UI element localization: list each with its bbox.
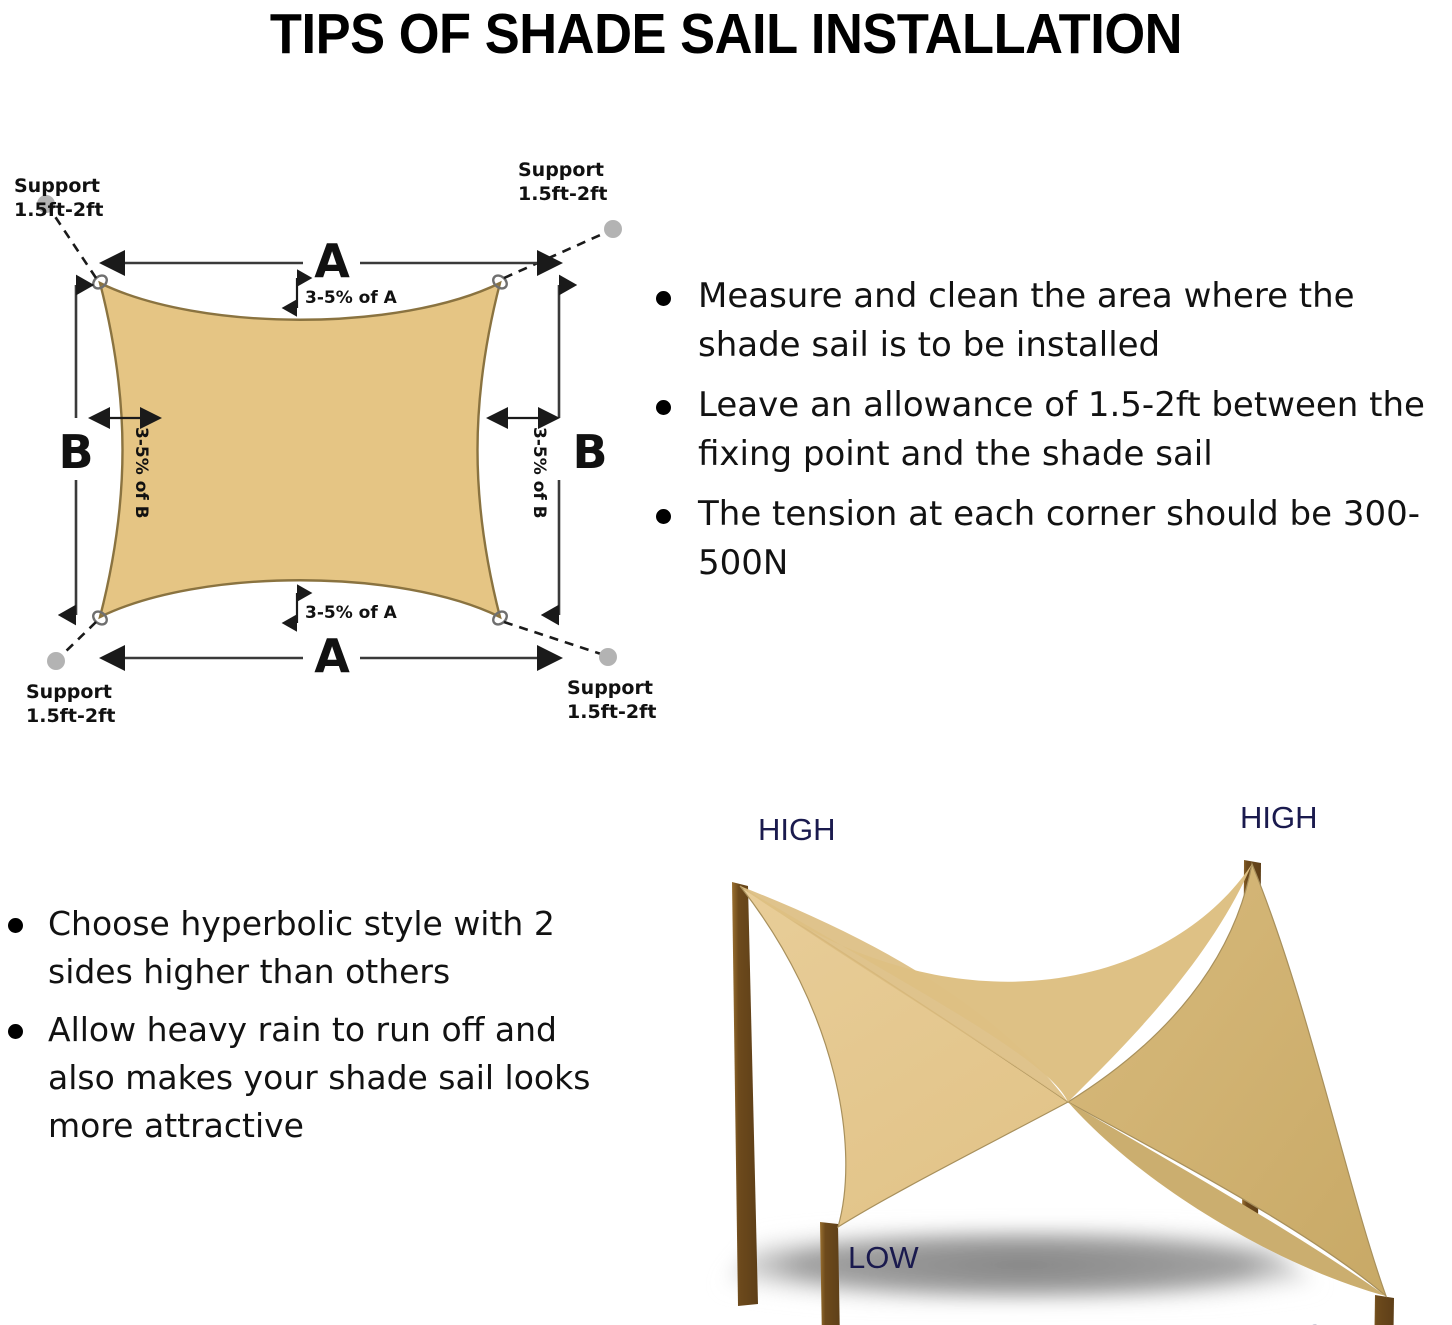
support-line xyxy=(504,622,601,654)
support-label-bottom-right-line1: Support xyxy=(567,677,653,699)
support-label-top-left-line2: 1.5ft-2ft xyxy=(14,199,103,221)
dimension-label-A-bottom: A xyxy=(314,629,350,683)
curve-label-right: 3-5% of B xyxy=(529,427,549,519)
list-item: Choose hyperbolic style with 2 sides hig… xyxy=(0,900,620,996)
support-label-bottom-left-line2: 1.5ft-2ft xyxy=(26,705,115,727)
support-label-bottom-right-line2: 1.5ft-2ft xyxy=(567,701,656,723)
curve-label-bottom: 3-5% of A xyxy=(305,603,398,623)
support-line xyxy=(52,212,96,278)
support-dot xyxy=(47,652,65,670)
dimension-label-B-right: B xyxy=(572,425,607,479)
curve-label-left: 3-5% of B xyxy=(131,427,151,519)
page-title: TIPS OF SHADE SAIL INSTALLATION xyxy=(58,0,1394,68)
post-right-low xyxy=(1371,1295,1394,1325)
infographic-page: TIPS OF SHADE SAIL INSTALLATION xyxy=(0,0,1452,1325)
post-label-front-low: LOW xyxy=(848,1240,919,1275)
support-dot xyxy=(604,220,622,238)
support-label-top-left-line1: Support xyxy=(14,175,100,197)
dimension-label-B-left: B xyxy=(58,425,93,479)
rectangular-sail-diagram: Support 1.5ft-2ft Support 1.5ft-2ft Supp… xyxy=(0,150,660,750)
list-item: Measure and clean the area where the sha… xyxy=(648,272,1452,370)
post-left-high xyxy=(732,882,758,1306)
support-label-bottom-left-line1: Support xyxy=(26,681,112,703)
installation-tips-list: Measure and clean the area where the sha… xyxy=(648,272,1452,599)
post-label-right-low: LOW xyxy=(1286,1318,1357,1325)
list-item: Leave an allowance of 1.5-2ft between th… xyxy=(648,381,1452,479)
list-item: The tension at each corner should be 300… xyxy=(648,490,1452,588)
list-item: Allow heavy rain to run off and also mak… xyxy=(0,1006,620,1150)
post-label-left-high: HIGH xyxy=(758,812,836,847)
shade-sail-shape xyxy=(100,283,500,617)
support-label-top-right-line2: 1.5ft-2ft xyxy=(518,183,607,205)
dimension-label-A-top: A xyxy=(314,234,350,288)
support-line xyxy=(62,622,96,655)
hyperbolic-sail-illustration: HIGH HIGH LOW LOW xyxy=(648,790,1452,1325)
support-line xyxy=(504,232,607,278)
post-front-low xyxy=(820,1222,841,1325)
curve-label-top: 3-5% of A xyxy=(305,288,398,308)
post-label-right-high: HIGH xyxy=(1240,800,1318,835)
hyperbolic-tips-list: Choose hyperbolic style with 2 sides hig… xyxy=(0,900,620,1160)
support-label-top-right-line1: Support xyxy=(518,159,604,181)
ground-shadow xyxy=(706,1228,1338,1302)
support-dot xyxy=(599,648,617,666)
